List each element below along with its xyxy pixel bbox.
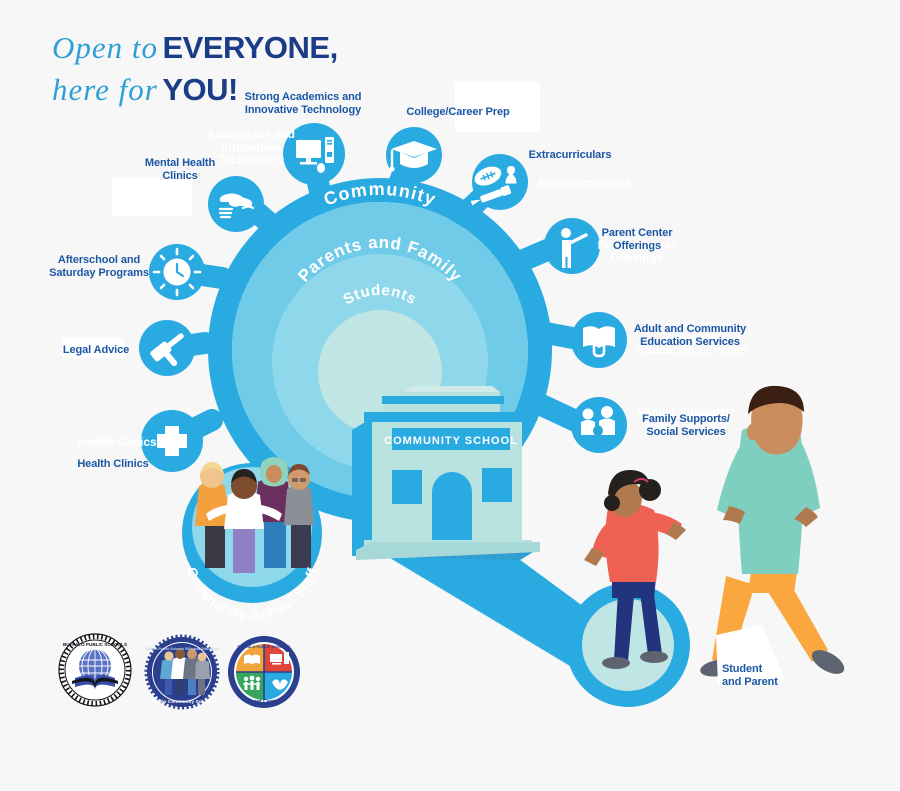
ghost-label-extracurriculars: Extracurriculars — [530, 177, 640, 190]
seal-parent-centers[interactable]: Parent Centers BUFFALO PUBLIC SCHOOLS — [228, 636, 300, 708]
white-patch-mental-health — [112, 178, 192, 216]
headline-script-2: here for — [52, 72, 158, 107]
spoke-icon-legal-advice[interactable] — [139, 320, 195, 376]
headline: Open to EVERYONE, here for YOU! — [52, 30, 338, 114]
label-family-supports[interactable]: Family Supports/Social Services — [634, 413, 738, 438]
seal-2-sub-text: Buffalo Community Schools — [150, 699, 215, 705]
label-afterschool-saturday[interactable]: Afterschool andSaturday Programs — [38, 254, 160, 279]
label-health-clinics[interactable]: Health Clinics — [68, 458, 158, 471]
ghost-label-health-clinics: Health Clinics — [72, 436, 162, 449]
label-adult-education[interactable]: Adult and CommunityEducation Services — [627, 323, 753, 348]
school-building: COMMUNITY SCHOOL — [352, 386, 540, 560]
seal-3-ring-text: BUFFALO PUBLIC SCHOOLS — [238, 645, 291, 649]
headline-bold-1: EVERYONE, — [162, 30, 337, 65]
headline-exclaim: ! — [228, 72, 238, 107]
label-legal-advice[interactable]: Legal Advice — [55, 344, 137, 357]
headline-script-1: Open to — [52, 30, 158, 65]
label-student-and-parent[interactable]: Studentand Parent — [722, 663, 796, 688]
label-parent-center-offerings[interactable]: Parent CenterOfferings — [592, 227, 682, 252]
seal-2-ring-text: Buffalo Public Schools Bilingual Educati… — [145, 647, 219, 651]
seal-buffalo-community-schools[interactable]: Buffalo Community Schools Buffalo Public… — [145, 637, 219, 707]
spoke-icon-adult-education[interactable] — [571, 312, 627, 368]
infographic-canvas: Open to EVERYONE, here for YOU! — [0, 0, 900, 791]
label-mental-health-clinics[interactable]: Mental HealthClinics — [128, 157, 232, 182]
label-extracurriculars[interactable]: Extracurriculars — [520, 149, 620, 162]
community-school-staff-badge[interactable]: Community School Staff — [182, 457, 322, 622]
seal-1-ring-text: BUFFALO PUBLIC SCHOOLS — [63, 642, 127, 647]
school-sign-text: COMMUNITY SCHOOL — [384, 435, 518, 447]
headline-bold-2: YOU — [162, 72, 228, 107]
spoke-icon-mental-health[interactable] — [208, 176, 264, 232]
seal-buffalo-public-schools[interactable]: BUFFALO PUBLIC SCHOOLS — [58, 633, 132, 707]
spoke-icon-college-career-prep[interactable] — [386, 127, 442, 183]
label-college-career-prep[interactable]: College/Career Prep — [400, 106, 516, 119]
spoke-icon-family-supports[interactable] — [571, 397, 627, 453]
seal-3-sub-text: Parent Centers — [245, 699, 283, 705]
